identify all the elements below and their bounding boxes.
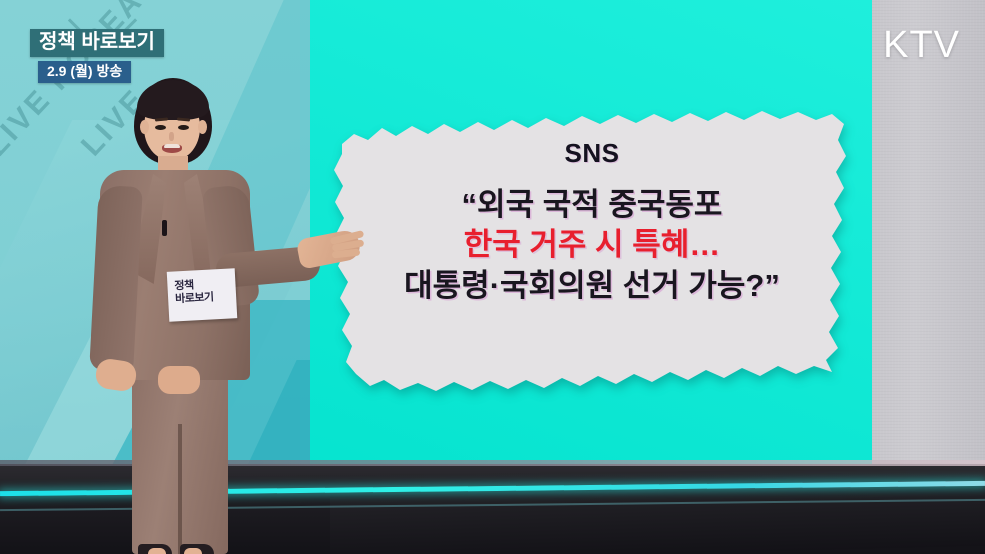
studio-wall-grey xyxy=(868,0,985,512)
anchor-teeth xyxy=(164,144,180,148)
anchor-ear-left xyxy=(140,120,149,134)
cue-card-text: 정책 바로보기 xyxy=(174,278,214,305)
anchor-heel-right xyxy=(184,548,202,554)
lapel-microphone-icon xyxy=(162,220,167,236)
program-title: 정책 바로보기 xyxy=(30,29,164,57)
program-title-block: 정책 바로보기 2.9 (월) 방송 xyxy=(30,29,164,83)
anchor-ear-right xyxy=(198,120,207,134)
anchor-leg-seam xyxy=(178,424,182,554)
anchor-eye-left xyxy=(155,125,166,130)
anchor-eye-right xyxy=(178,125,189,130)
air-date-wrap: 2.9 (월) 방송 xyxy=(38,61,164,83)
anchor-heel-left xyxy=(148,548,166,554)
anchor-hand-left-support xyxy=(158,366,200,394)
anchor-cue-card: 정책 바로보기 xyxy=(167,268,238,321)
floor-riser xyxy=(330,482,985,554)
channel-logo: KTV xyxy=(883,24,960,67)
air-date-badge: 2.9 (월) 방송 xyxy=(38,61,131,83)
torn-paper-card xyxy=(332,104,852,394)
anchor-nose xyxy=(169,132,174,141)
cue-card-line-2: 바로보기 xyxy=(175,291,214,306)
broadcast-frame: LIVE KOREA LIVE 정책 바로보기 2.9 (월) 방송 KTV S… xyxy=(0,0,985,554)
